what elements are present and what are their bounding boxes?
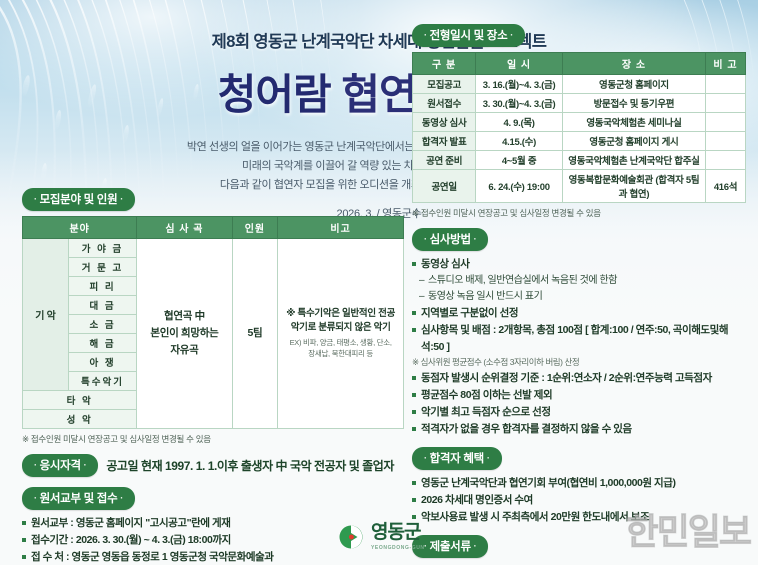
- list-item: 동영상 심사: [412, 256, 746, 273]
- table-cell: 4.15.(수): [476, 132, 563, 151]
- table-cell: 영동국악체험촌 난계국악단 합주실: [562, 151, 705, 170]
- cell-category-percussion: 타 악: [23, 391, 137, 410]
- section-heading-eligibility-row: · 응시자격 · 공고일 현재 1997. 1. 1.이후 출생자 中 국악 전…: [22, 454, 404, 477]
- right-column: · 전형일시 및 장소 · 구 분 일 시 장 소 비 고 모집공고3. 16.…: [412, 24, 746, 565]
- section-heading-recruit: · 모집분야 및 인원 ·: [22, 188, 135, 211]
- dot-icon: ·: [424, 234, 427, 244]
- schedule-table-body: 모집공고3. 16.(월)~4. 3.(금)영동군청 홈페이지원서접수3. 30…: [413, 75, 746, 203]
- cell-instrument: 거 문 고: [68, 258, 137, 277]
- th-datetime: 일 시: [476, 53, 563, 75]
- list-item: 적격자가 없을 경우 합격자를 결정하지 않을 수 있음: [412, 421, 746, 438]
- cell-instrument: 해 금: [68, 334, 137, 353]
- th-place: 장 소: [562, 53, 705, 75]
- cell-instrument: 피 리: [68, 277, 137, 296]
- section-heading-documents-label: 제출서류: [430, 541, 471, 553]
- table-cell: 4. 9.(목): [476, 113, 563, 132]
- logo-text-block: 영동군 YEONGDONG-GUN: [371, 523, 425, 551]
- section-heading-benefits: · 합격자 혜택 ·: [412, 447, 502, 470]
- section-heading-eligibility-label: 응시자격: [40, 460, 81, 472]
- list-item: 스튜디오 배제, 일반연습실에서 녹음된 것에 한함: [412, 273, 746, 289]
- cell-instrument: 특수악기: [68, 372, 137, 391]
- cell-instrument: 소 금: [68, 315, 137, 334]
- cell-instrument: 대 금: [68, 296, 137, 315]
- dot-icon: ·: [510, 30, 513, 40]
- table-cell: [706, 113, 746, 132]
- dot-icon: ·: [424, 453, 427, 463]
- poster-canvas: 제8회 영동군 난계국악단 차세대 명인발굴 프로젝트 청어람 협연자 모집 박…: [0, 0, 758, 565]
- logo-subname: YEONGDONG-GUN: [371, 545, 425, 551]
- table-cell: [706, 75, 746, 94]
- table-row: 원서접수3. 30.(월)~4. 3.(금)방문접수 및 등기우편: [413, 94, 746, 113]
- left-column: · 모집분야 및 인원 · 분야 심 사 곡 인원 비고 기 악 가 야 금 협…: [22, 188, 404, 565]
- table-cell: 원서접수: [413, 94, 476, 113]
- table-row: 공연일6. 24.(수) 19:00영동복합문화예술회관 (합격자 5팀과 협연…: [413, 170, 746, 203]
- logo-emblem-icon: [338, 524, 364, 550]
- dot-icon: ·: [474, 234, 477, 244]
- table-cell: [706, 132, 746, 151]
- table-row: 모집공고3. 16.(월)~4. 3.(금)영동군청 홈페이지: [413, 75, 746, 94]
- dot-icon: ·: [34, 493, 37, 503]
- list-item: 악기별 최고 득점자 순으로 선정: [412, 404, 746, 421]
- table-row: 공연 준비4~5월 중영동국악체험촌 난계국악단 합주실: [413, 151, 746, 170]
- list-item: 접 수 처 : 영동군 영동읍 동정로 1 영동군청 국악문화예술과: [22, 549, 404, 565]
- dot-icon: ·: [120, 194, 123, 204]
- table-cell: 영동복합문화예술회관 (합격자 5팀과 협연): [562, 170, 705, 203]
- table-cell: 416석: [706, 170, 746, 203]
- table-row: 합격자 발표4.15.(수)영동군청 홈페이지 게시: [413, 132, 746, 151]
- cell-audition-piece: 협연곡 中본인이 희망하는자유곡: [137, 239, 232, 429]
- list-item: 지역별로 구분없이 선정: [412, 305, 746, 322]
- section-heading-schedule-row: · 전형일시 및 장소 ·: [412, 24, 746, 47]
- table-cell: [706, 94, 746, 113]
- section-heading-schedule: · 전형일시 및 장소 ·: [412, 24, 525, 47]
- eligibility-text: 공고일 현재 1997. 1. 1.이후 출생자 中 국악 전공자 및 졸업자: [106, 457, 394, 474]
- recruit-footnote: ※ 접수인원 미달시 연장공고 및 심사일정 변경될 수 있음: [22, 433, 404, 445]
- dot-icon: ·: [34, 460, 37, 470]
- table-cell: 영동군청 홈페이지 게시: [562, 132, 705, 151]
- list-item: 영동군 난계국악단과 협연기회 부여(협연비 1,000,000원 지급): [412, 475, 746, 492]
- th-remark: 비고: [278, 217, 404, 239]
- list-item: ※ 심사위원 평균점수 (소수점 3자리이하 버림) 산정: [412, 356, 746, 370]
- recruit-table: 분야 심 사 곡 인원 비고 기 악 가 야 금 협연곡 中본인이 희망하는자유…: [22, 216, 404, 429]
- section-heading-application-label: 원서교부 및 접수: [40, 493, 118, 505]
- section-heading-recruit-label: 모집분야 및 인원: [40, 194, 118, 206]
- section-heading-method: · 심사방법 ·: [412, 228, 488, 251]
- section-heading-method-label: 심사방법: [430, 234, 471, 246]
- section-heading-schedule-label: 전형일시 및 장소: [430, 30, 508, 42]
- cell-instrument: 아 쟁: [68, 353, 137, 372]
- list-item: 심사항목 및 배점 : 2개항목, 총점 100점 [ 합계:100 / 연주:…: [412, 322, 746, 356]
- table-cell: 동영상 심사: [413, 113, 476, 132]
- table-cell: 공연일: [413, 170, 476, 203]
- remark-sub-text: EX) 비파, 양금, 태평소, 생황, 단소,장새납, 북한대피리 등: [281, 338, 400, 360]
- cell-category-vocal: 성 악: [23, 410, 137, 429]
- table-cell: 3. 30.(월)~4. 3.(금): [476, 94, 563, 113]
- table-cell: 합격자 발표: [413, 132, 476, 151]
- list-item: 동영상 녹음 일시 반드시 표기: [412, 289, 746, 305]
- dot-icon: ·: [474, 541, 477, 551]
- table-cell: 방문접수 및 등기우편: [562, 94, 705, 113]
- section-heading-application: · 원서교부 및 접수 ·: [22, 487, 135, 510]
- th-note: 비 고: [706, 53, 746, 75]
- table-cell: 영동국악체험촌 세미나실: [562, 113, 705, 132]
- list-item: 평균점수 80점 이하는 선발 제외: [412, 387, 746, 404]
- schedule-table: 구 분 일 시 장 소 비 고 모집공고3. 16.(월)~4. 3.(금)영동…: [412, 52, 746, 203]
- table-cell: 모집공고: [413, 75, 476, 94]
- section-heading-eligibility: · 응시자격 ·: [22, 454, 98, 477]
- watermark: 한민일보: [626, 503, 750, 555]
- dot-icon: ·: [120, 493, 123, 503]
- dot-icon: ·: [424, 30, 427, 40]
- table-cell: [706, 151, 746, 170]
- table-cell: 4~5월 중: [476, 151, 563, 170]
- section-heading-method-row: · 심사방법 ·: [412, 228, 746, 251]
- table-row: 동영상 심사4. 9.(목)영동국악체험촌 세미나실: [413, 113, 746, 132]
- th-piece: 심 사 곡: [137, 217, 232, 239]
- method-list: 동영상 심사스튜디오 배제, 일반연습실에서 녹음된 것에 한함동영상 녹음 일…: [412, 256, 746, 438]
- remark-main-text: ※ 특수기악은 일반적인 전공악기로 분류되지 않은 악기: [281, 307, 400, 336]
- table-row: 기 악 가 야 금 협연곡 中본인이 희망하는자유곡 5팀 ※ 특수기악은 일반…: [23, 239, 404, 258]
- table-header-row: 구 분 일 시 장 소 비 고: [413, 53, 746, 75]
- table-cell: 3. 16.(월)~4. 3.(금): [476, 75, 563, 94]
- logo-name: 영동군: [371, 522, 420, 543]
- section-heading-benefits-row: · 합격자 혜택 ·: [412, 447, 746, 470]
- cell-instrument: 가 야 금: [68, 239, 137, 258]
- section-heading-application-row: · 원서교부 및 접수 ·: [22, 487, 404, 510]
- section-heading-benefits-label: 합격자 혜택: [430, 453, 484, 465]
- cell-remark: ※ 특수기악은 일반적인 전공악기로 분류되지 않은 악기 EX) 비파, 양금…: [278, 239, 404, 429]
- table-cell: 공연 준비: [413, 151, 476, 170]
- cell-category-instrumental: 기 악: [23, 239, 69, 391]
- cell-count: 5팀: [232, 239, 278, 429]
- list-item: 동점자 발생시 순위결정 기준 : 1순위:연소자 / 2순위:연주능력 고득점…: [412, 370, 746, 387]
- table-header-row: 분야 심 사 곡 인원 비고: [23, 217, 404, 239]
- yeongdong-gun-logo: 영동군 YEONGDONG-GUN: [338, 523, 425, 551]
- th-field: 분야: [23, 217, 137, 239]
- th-count: 인원: [232, 217, 278, 239]
- title-lead: 청어람: [218, 71, 331, 118]
- table-cell: 6. 24.(수) 19:00: [476, 170, 563, 203]
- dot-icon: ·: [487, 453, 490, 463]
- schedule-footnote: ※ 접수인원 미달시 연장공고 및 심사일정 변경될 수 있음: [412, 207, 746, 219]
- th-division: 구 분: [413, 53, 476, 75]
- dot-icon: ·: [84, 460, 87, 470]
- section-heading-recruit-row: · 모집분야 및 인원 ·: [22, 188, 404, 211]
- table-cell: 영동군청 홈페이지: [562, 75, 705, 94]
- dot-icon: ·: [34, 194, 37, 204]
